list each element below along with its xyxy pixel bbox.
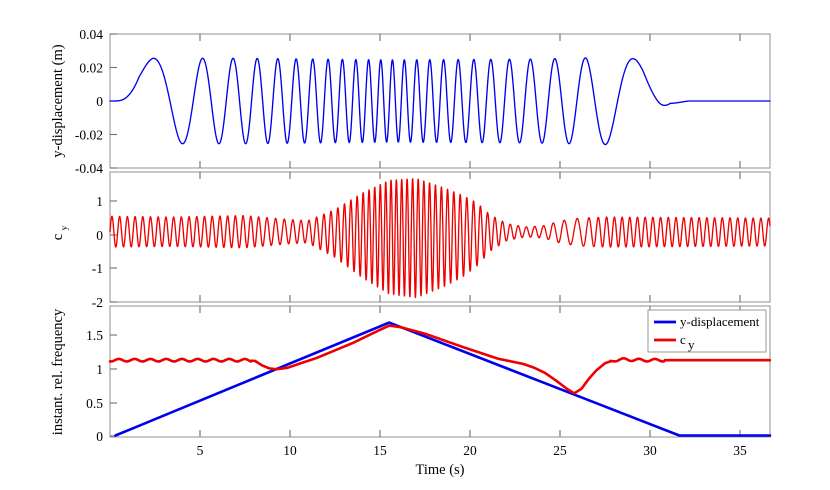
- panel-frequency-yticklabels: 1.5 1 0.5 0: [86, 328, 103, 444]
- panel-displacement-yticklabels: 0.04 0.02 0 -0.02 -0.04: [75, 27, 103, 176]
- ytick-label: -0.02: [75, 128, 103, 143]
- ytick-label: -1: [92, 261, 103, 276]
- panel-cy-ylabel: c y: [50, 225, 70, 240]
- figure-container: 0.04 0.02 0 -0.02 -0.04 y-displacement (…: [0, 0, 830, 490]
- panel-cy: 1 0 -1 -2 c y: [50, 172, 770, 310]
- ytick-label: -0.04: [75, 161, 103, 176]
- ytick-label: 0.02: [79, 61, 103, 76]
- panel-displacement-ylabel: y-displacement (m): [50, 44, 66, 157]
- xaxis-label: Time (s): [415, 462, 464, 478]
- panel-frequency-xticklabels: 5 10 15 20 25 30 35: [197, 443, 747, 458]
- panel-displacement: 0.04 0.02 0 -0.02 -0.04 y-displacement (…: [50, 27, 770, 176]
- legend-label-cy: c: [680, 332, 686, 347]
- ytick-label: 1: [96, 194, 103, 209]
- panel-cy-ylabel-sub: y: [60, 225, 70, 230]
- ytick-label: 0: [96, 429, 103, 444]
- xtick-label: 10: [283, 443, 297, 458]
- ytick-label: 0: [96, 228, 103, 243]
- panel-cy-ylabel-base: c: [50, 234, 66, 240]
- legend-label-y-displacement: y-displacement: [680, 314, 760, 329]
- ytick-label: 0: [96, 94, 103, 109]
- xtick-label: 20: [463, 443, 477, 458]
- legend-label-cy-sub: y: [688, 337, 695, 352]
- xtick-label: 25: [553, 443, 567, 458]
- xtick-label: 30: [643, 443, 657, 458]
- xtick-label: 35: [733, 443, 747, 458]
- multi-panel-plot: 0.04 0.02 0 -0.02 -0.04 y-displacement (…: [0, 0, 830, 490]
- xtick-label: 15: [373, 443, 387, 458]
- panel-frequency-ylabel: instant. rel. frequency: [50, 308, 66, 435]
- ytick-label: -2: [92, 295, 103, 310]
- panel-cy-yticklabels: 1 0 -1 -2: [92, 194, 104, 310]
- ytick-label: 1: [96, 362, 103, 377]
- panel-frequency: 1.5 1 0.5 0 5 10 15 20 25 30: [50, 306, 770, 478]
- ytick-label: 1.5: [86, 328, 103, 343]
- ytick-label: 0.04: [79, 27, 103, 42]
- ytick-label: 0.5: [86, 396, 103, 411]
- legend: y-displacement c y: [648, 310, 766, 352]
- xtick-label: 5: [197, 443, 204, 458]
